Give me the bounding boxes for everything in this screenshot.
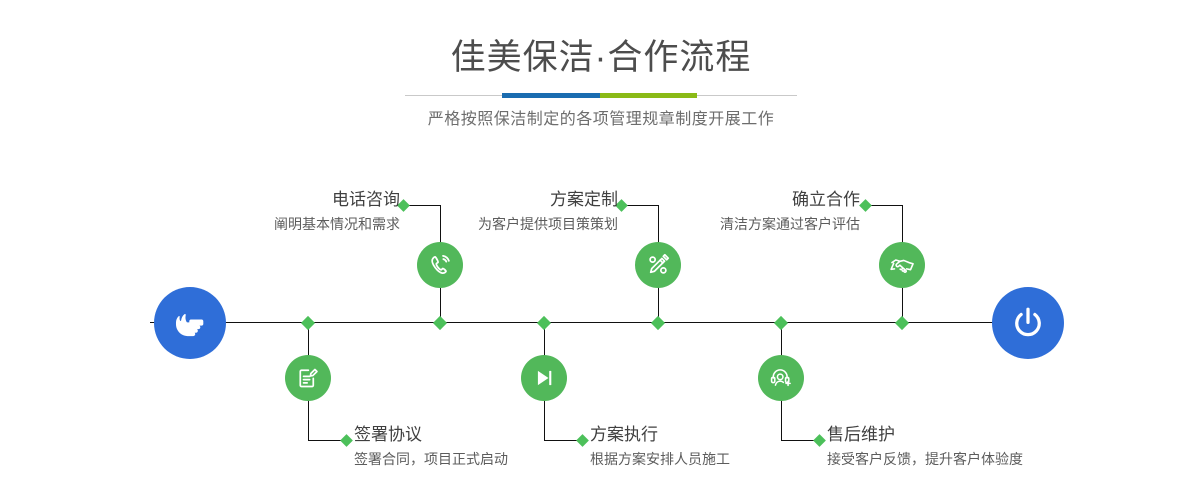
axis-marker-1 (433, 316, 447, 330)
pencil-ruler-icon (645, 252, 671, 278)
step-icon-4 (521, 355, 567, 401)
step-title-6: 售后维护 (827, 424, 1023, 446)
axis-marker-5 (895, 316, 909, 330)
step-desc-6: 接受客户反馈，提升客户体验度 (827, 449, 1023, 469)
handshake-icon (889, 252, 916, 279)
step-icon-6 (758, 355, 804, 401)
step-icon-1 (417, 242, 463, 288)
step-label-2: 签署协议 签署合同，项目正式启动 (354, 424, 508, 469)
customer-service-icon (768, 365, 794, 391)
timeline-end-endpoint (992, 287, 1064, 359)
timeline-start-endpoint (154, 287, 226, 359)
step-desc-5: 清洁方案通过客户评估 (460, 214, 860, 234)
pointing-hand-icon (171, 304, 209, 342)
step-title-5: 确立合作 (460, 189, 860, 211)
step-title-2: 签署协议 (354, 424, 508, 446)
axis-marker-3 (651, 316, 665, 330)
title-divider (405, 93, 797, 99)
step-icon-5 (879, 242, 925, 288)
axis-marker-6 (774, 316, 788, 330)
step-title-4: 方案执行 (590, 424, 730, 446)
process-flow-infographic: 佳美保洁·合作流程 严格按照保洁制定的各项管理规章制度开展工作 (0, 0, 1202, 502)
label-marker-4 (576, 434, 589, 447)
phone-call-icon (427, 252, 454, 279)
header: 佳美保洁·合作流程 严格按照保洁制定的各项管理规章制度开展工作 (0, 36, 1202, 131)
play-skip-icon (531, 365, 557, 391)
step-label-6: 售后维护 接受客户反馈，提升客户体验度 (827, 424, 1023, 469)
step-label-5: 确立合作 清洁方案通过客户评估 (460, 189, 860, 234)
page-title: 佳美保洁·合作流程 (0, 36, 1202, 80)
divider-segment-blue (502, 93, 600, 98)
axis-marker-2 (301, 316, 315, 330)
step-icon-3 (635, 242, 681, 288)
step-icon-2 (285, 355, 331, 401)
divider-segment-green (600, 93, 697, 98)
document-edit-icon (295, 365, 321, 391)
label-marker-6 (813, 434, 826, 447)
label-marker-5 (859, 199, 872, 212)
step-desc-2: 签署合同，项目正式启动 (354, 449, 508, 469)
power-icon (1008, 303, 1048, 343)
step-desc-4: 根据方案安排人员施工 (590, 449, 730, 469)
axis-marker-4 (537, 316, 551, 330)
step-label-4: 方案执行 根据方案安排人员施工 (590, 424, 730, 469)
page-subtitle: 严格按照保洁制定的各项管理规章制度开展工作 (0, 109, 1202, 131)
label-marker-2 (340, 434, 353, 447)
timeline-axis (150, 322, 1060, 323)
